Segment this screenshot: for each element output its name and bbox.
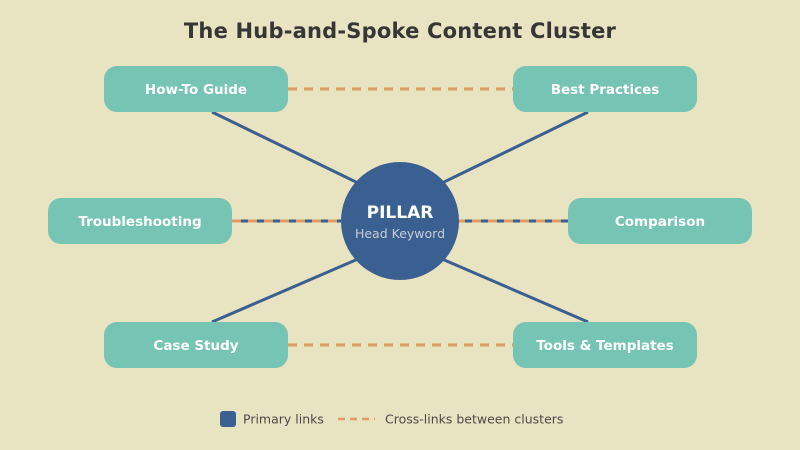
node-label-best-practices: Best Practices (551, 82, 660, 98)
legend-label-primary: Primary links (243, 412, 324, 427)
primary-link-best-practices (442, 112, 588, 183)
node-case-study[interactable]: Case Study (104, 322, 288, 368)
legend-item-cross[interactable]: Cross-links between clusters (338, 412, 563, 427)
page-title: The Hub-and-Spoke Content Cluster (184, 19, 617, 43)
node-comparison[interactable]: Comparison (568, 198, 752, 244)
hub-title: PILLAR (367, 203, 434, 223)
node-label-comparison: Comparison (615, 214, 705, 230)
legend-item-primary[interactable]: Primary links (220, 411, 324, 427)
diagram-canvas: The Hub-and-Spoke Content Cluster PILLAR… (0, 0, 800, 450)
node-label-troubleshooting: Troubleshooting (78, 214, 201, 230)
node-label-tools-templates: Tools & Templates (536, 338, 674, 354)
primary-link-case-study (212, 259, 358, 322)
hub-subtitle: Head Keyword (355, 226, 445, 241)
node-label-how-to-guide: How-To Guide (145, 82, 247, 98)
legend-label-cross: Cross-links between clusters (385, 412, 563, 427)
node-label-case-study: Case Study (153, 338, 238, 354)
node-tools-templates[interactable]: Tools & Templates (513, 322, 697, 368)
hub-and-spoke-diagram: The Hub-and-Spoke Content Cluster PILLAR… (0, 0, 800, 450)
primary-link-how-to-guide (212, 112, 358, 183)
primary-link-tools-templates (442, 259, 588, 322)
hub-node[interactable]: PILLAR Head Keyword (341, 162, 459, 280)
node-best-practices[interactable]: Best Practices (513, 66, 697, 112)
legend-swatch-primary (220, 411, 236, 427)
node-troubleshooting[interactable]: Troubleshooting (48, 198, 232, 244)
node-how-to-guide[interactable]: How-To Guide (104, 66, 288, 112)
legend: Primary links Cross-links between cluste… (220, 411, 563, 427)
